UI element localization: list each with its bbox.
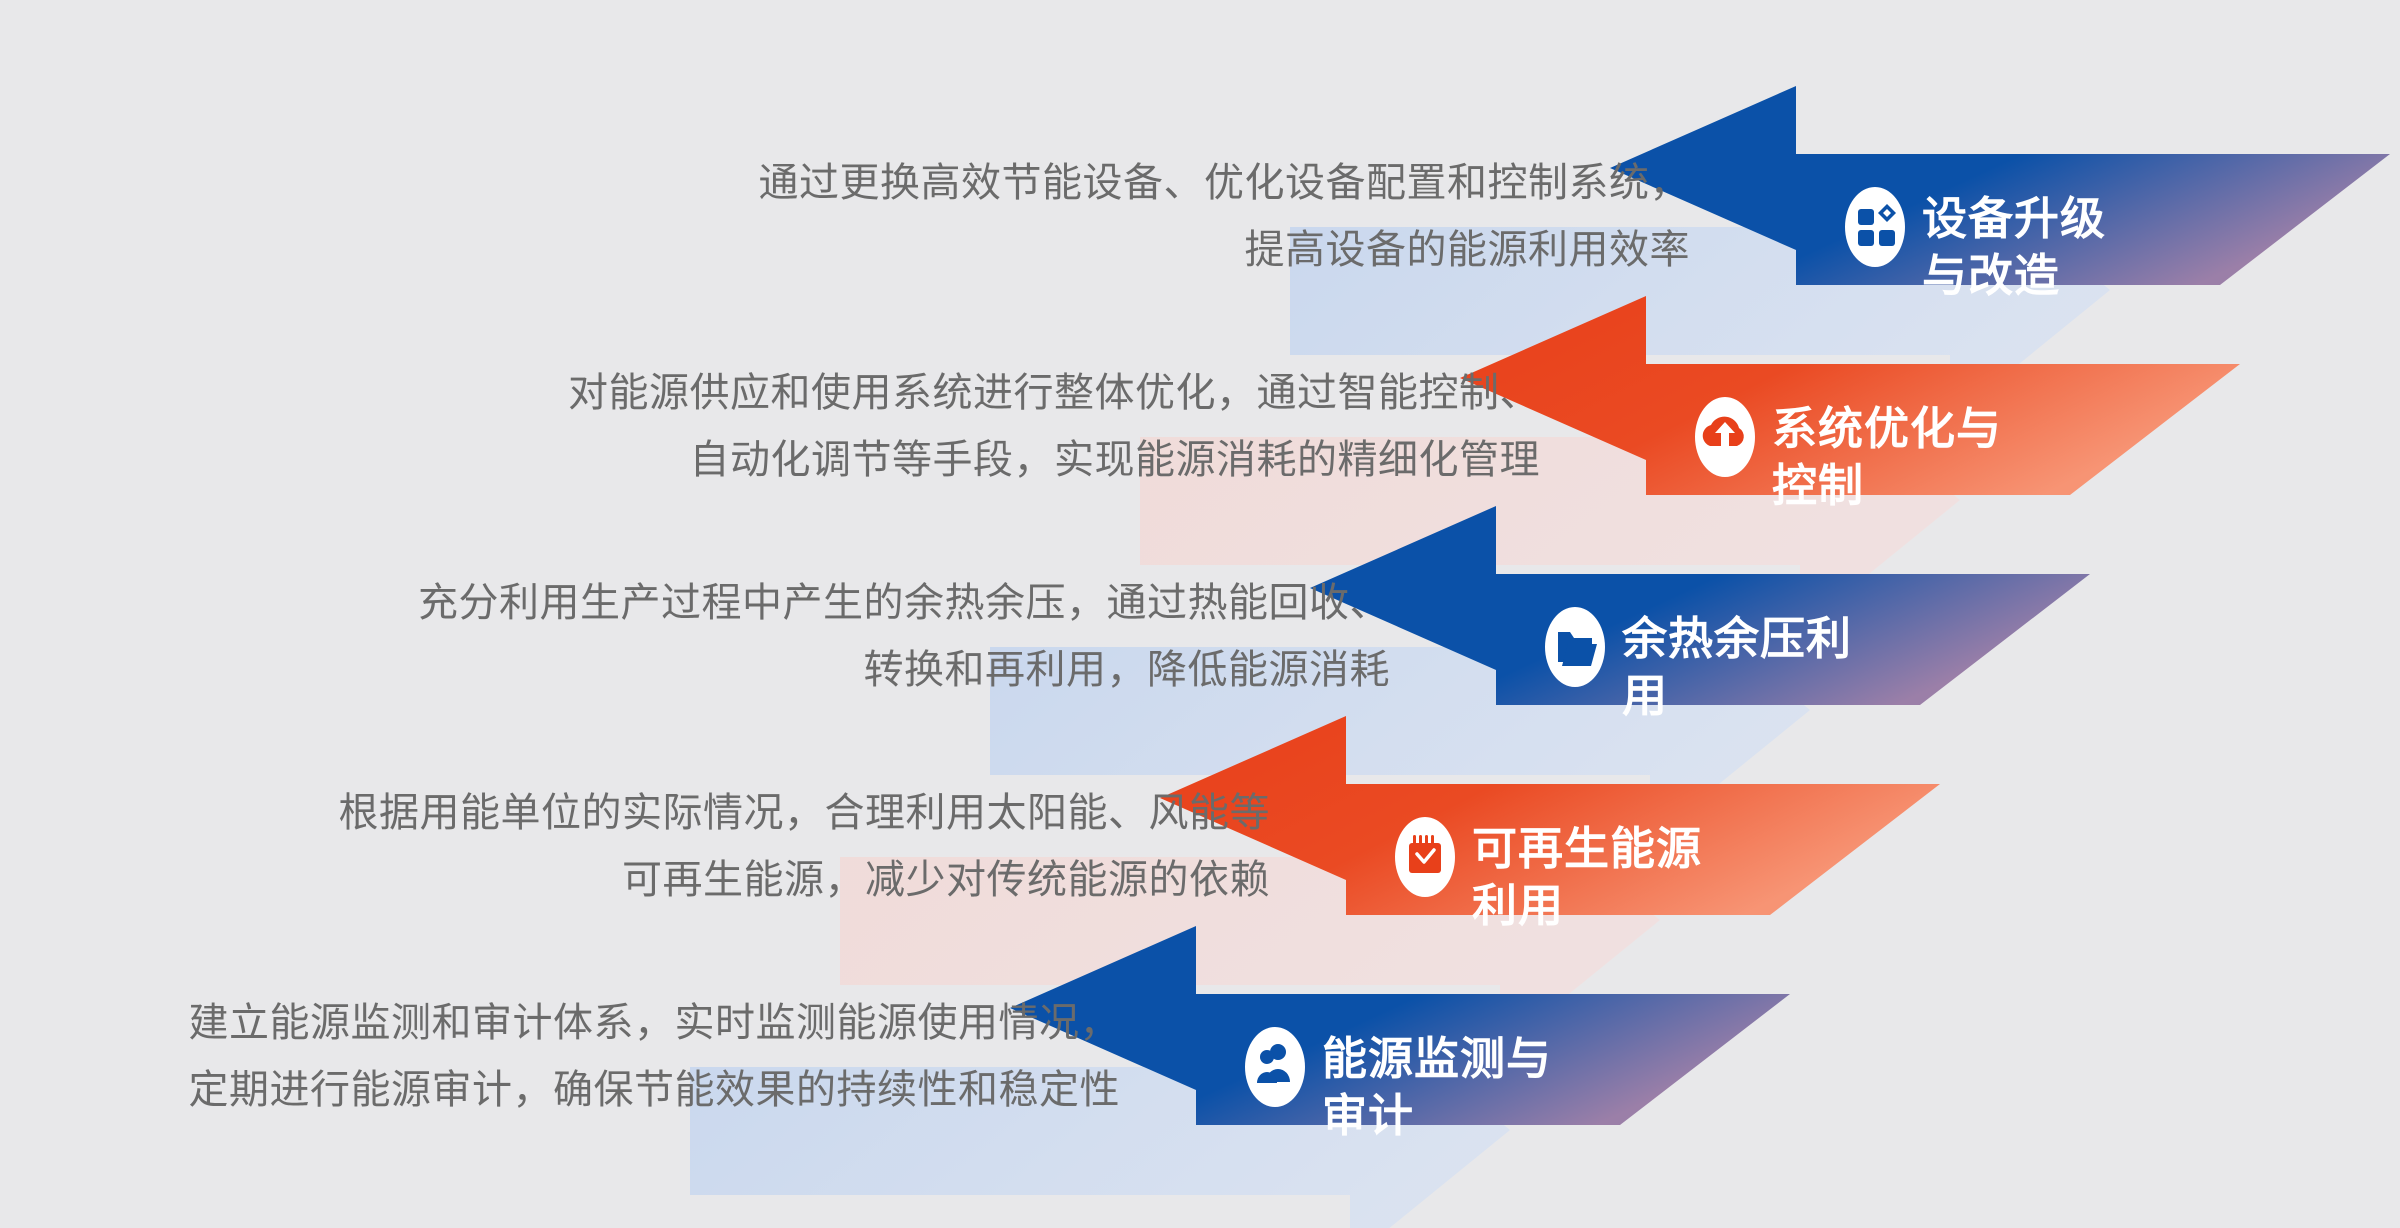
arrow-title-1-line-2: 与改造 [1922,247,2106,304]
description-2-line-1: 对能源供应和使用系统进行整体优化，通过智能控制、 [310,360,1540,427]
description-5-line-2: 定期进行能源审计，确保节能效果的持续性和稳定性 [0,1057,1120,1124]
icon-badge-1 [1845,187,1905,267]
description-4-line-2: 可再生能源，减少对传统能源的依赖 [40,847,1270,914]
description-3-line-1: 充分利用生产过程中产生的余热余压，通过热能回收、 [160,570,1390,637]
arrow-title-4-line-1: 可再生能源 [1472,820,1702,877]
arrow-title-2: 系统优化与 控制 [1772,400,2002,514]
arrow-title-4: 可再生能源 利用 [1472,820,1702,934]
arrow-title-3: 余热余压利 用 [1622,610,1852,724]
description-4: 根据用能单位的实际情况，合理利用太阳能、风能等 可再生能源，减少对传统能源的依赖 [40,780,1270,914]
arrow-title-3-line-1: 余热余压利 [1622,610,1852,667]
description-4-line-1: 根据用能单位的实际情况，合理利用太阳能、风能等 [40,780,1270,847]
arrow-title-4-line-2: 利用 [1472,877,1702,934]
icon-badge-5 [1245,1027,1305,1107]
arrow-title-2-line-2: 控制 [1772,457,2002,514]
description-1: 通过更换高效节能设备、优化设备配置和控制系统， 提高设备的能源利用效率 [460,150,1690,284]
arrow-title-2-line-1: 系统优化与 [1772,400,2002,457]
arrow-title-3-line-2: 用 [1622,667,1852,724]
arrow-title-5-line-1: 能源监测与 [1322,1030,1552,1087]
arrow-title-1: 设备升级 与改造 [1922,190,2106,304]
arrow-title-1-line-1: 设备升级 [1922,190,2106,247]
description-5: 建立能源监测和审计体系，实时监测能源使用情况， 定期进行能源审计，确保节能效果的… [0,990,1120,1124]
description-2: 对能源供应和使用系统进行整体优化，通过智能控制、 自动化调节等手段，实现能源消耗… [310,360,1540,494]
description-1-line-1: 通过更换高效节能设备、优化设备配置和控制系统， [460,150,1690,217]
description-3-line-2: 转换和再利用，降低能源消耗 [160,637,1390,704]
infographic-canvas: 设备升级 与改造 系统优化与 控制 余热余压利 用 可再生能源 利用 能源监测与… [0,0,2400,1228]
arrow-title-5-line-2: 审计 [1322,1087,1552,1144]
description-1-line-2: 提高设备的能源利用效率 [460,217,1690,284]
description-2-line-2: 自动化调节等手段，实现能源消耗的精细化管理 [310,427,1540,494]
arrow-title-5: 能源监测与 审计 [1322,1030,1552,1144]
description-5-line-1: 建立能源监测和审计体系，实时监测能源使用情况， [0,990,1120,1057]
description-3: 充分利用生产过程中产生的余热余压，通过热能回收、 转换和再利用，降低能源消耗 [160,570,1390,704]
